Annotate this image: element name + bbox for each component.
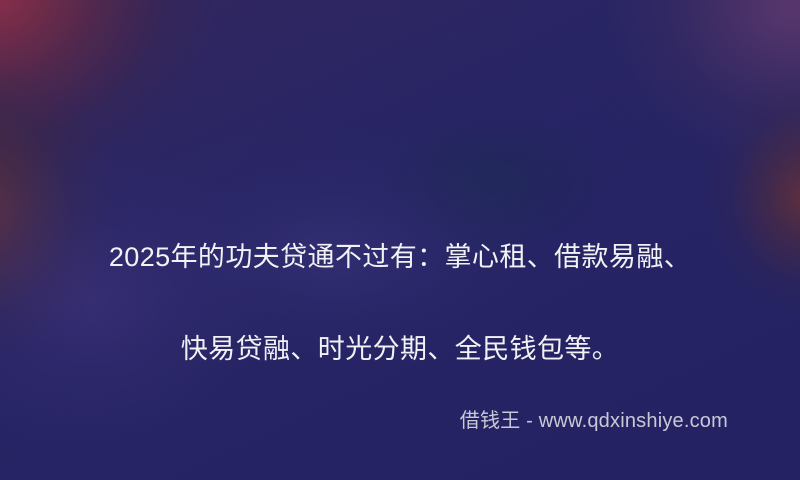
banner-headline-line-1: 2025年的功夫贷通不过有：掌心租、借款易融、	[30, 234, 770, 280]
banner-headline: 2025年的功夫贷通不过有：掌心租、借款易融、 快易贷融、时光分期、全民钱包等。	[0, 188, 800, 418]
site-watermark: 借钱王 - www.qdxinshiye.com	[460, 408, 728, 434]
banner-headline-line-2: 快易贷融、时光分期、全民钱包等。	[30, 326, 770, 372]
article-banner-image: 2025年的功夫贷通不过有：掌心租、借款易融、 快易贷融、时光分期、全民钱包等。…	[0, 0, 800, 480]
